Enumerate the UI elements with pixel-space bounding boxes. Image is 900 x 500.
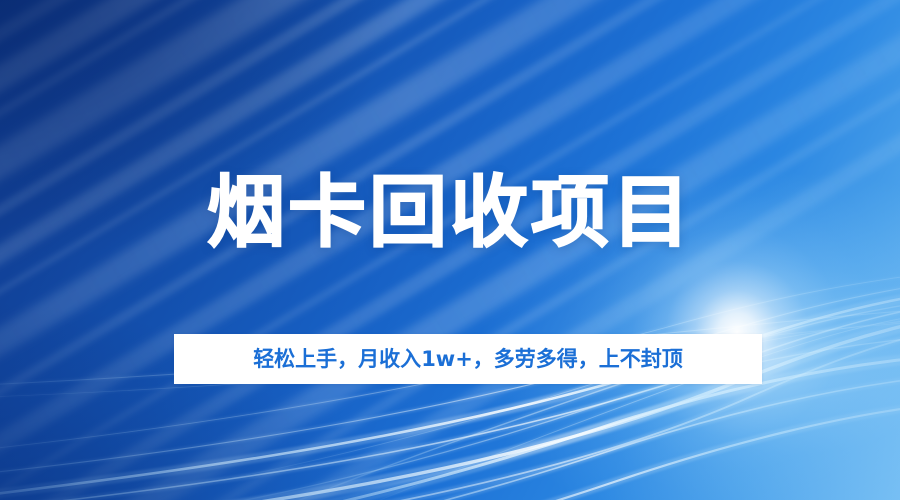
banner-title: 烟卡回收项目 <box>207 172 693 254</box>
subtitle-text-part-1: 轻松上手，月收入 <box>253 347 421 371</box>
light-trail <box>266 404 900 500</box>
subtitle-highlight-income: 1w+ <box>421 347 473 371</box>
banner-subtitle: 轻松上手，月收入1w+，多劳多得，上不封顶 <box>253 347 683 371</box>
background-streak <box>0 0 900 322</box>
light-trail <box>300 300 900 500</box>
light-trails-core <box>0 272 900 500</box>
title-block: 烟卡回收项目 <box>0 172 900 254</box>
light-trail <box>250 376 900 500</box>
subtitle-text-part-2: ，多劳多得，上不封顶 <box>473 347 683 371</box>
promo-banner: 烟卡回收项目 轻松上手，月收入1w+，多劳多得，上不封顶 <box>0 0 900 500</box>
light-trail <box>266 404 900 500</box>
light-trails-glow <box>0 272 900 500</box>
light-trail <box>0 292 900 498</box>
light-trail <box>250 376 900 500</box>
light-trail <box>300 300 900 500</box>
light-trail <box>0 292 900 498</box>
subtitle-bar: 轻松上手，月收入1w+，多劳多得，上不封顶 <box>174 334 762 384</box>
